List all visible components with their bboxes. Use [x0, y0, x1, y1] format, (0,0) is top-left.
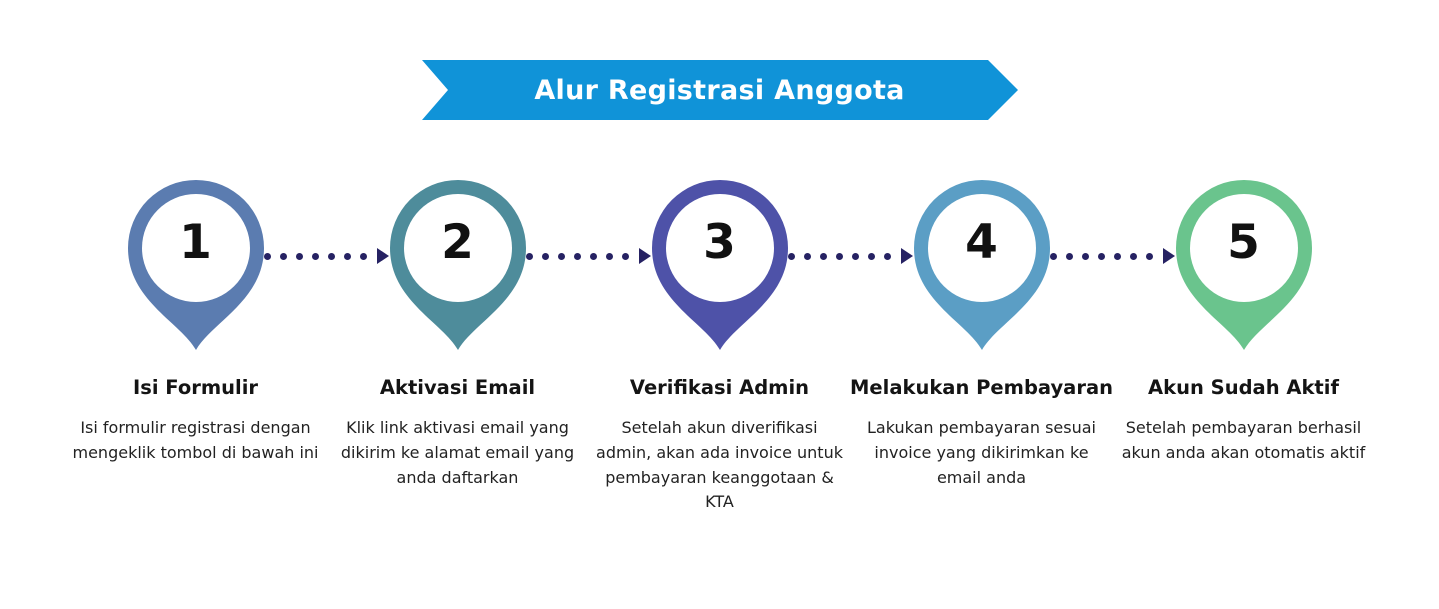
page-title: Alur Registrasi Anggota: [534, 75, 904, 106]
title-banner: Alur Registrasi Anggota: [422, 60, 1018, 120]
connector-dot: [590, 253, 597, 260]
map-pin-4: 4: [906, 172, 1058, 352]
title-banner-container: Alur Registrasi Anggota: [0, 60, 1439, 120]
step-item-5: 5 Akun Sudah Aktif Setelah pembayaran be…: [1113, 172, 1375, 466]
step-number-1: 1: [179, 219, 212, 266]
connector-dot: [574, 253, 581, 260]
connector-dot: [1098, 253, 1105, 260]
connector-dot: [526, 253, 533, 260]
connector-dot: [788, 253, 795, 260]
step-description-3: Setelah akun diverifikasi admin, akan ad…: [595, 416, 845, 515]
dotted-arrow-right-icon: [798, 248, 904, 264]
step-number-4: 4: [965, 219, 998, 266]
step-description-2: Klik link aktivasi email yang dikirim ke…: [333, 416, 583, 490]
connector-dot: [884, 253, 891, 260]
connector-dot: [836, 253, 843, 260]
step-number-2: 2: [441, 219, 474, 266]
connector-dot: [1114, 253, 1121, 260]
connector-dot: [852, 253, 859, 260]
step-number-5: 5: [1227, 219, 1260, 266]
connector-dot: [264, 253, 271, 260]
step-title-3: Verifikasi Admin: [630, 376, 809, 399]
connector-dot: [542, 253, 549, 260]
connector-dot: [606, 253, 613, 260]
connector-dot: [820, 253, 827, 260]
connector-dot: [296, 253, 303, 260]
step-title-1: Isi Formulir: [133, 376, 258, 399]
connector-dot: [1082, 253, 1089, 260]
step-description-5: Setelah pembayaran berhasil akun anda ak…: [1119, 416, 1369, 466]
step-title-2: Aktivasi Email: [380, 376, 535, 399]
steps-row: 1 Isi Formulir Isi formulir registrasi d…: [0, 172, 1439, 515]
step-item-1: 1 Isi Formulir Isi formulir registrasi d…: [65, 172, 327, 466]
map-pin-3: 3: [644, 172, 796, 352]
connector-dot: [558, 253, 565, 260]
step-item-2: 2 Aktivasi Email Klik link aktivasi emai…: [327, 172, 589, 490]
dotted-arrow-right-icon: [274, 248, 380, 264]
map-pin-1: 1: [120, 172, 272, 352]
connector-dot: [328, 253, 335, 260]
dotted-arrow-right-icon: [1060, 248, 1166, 264]
connector-dot: [1066, 253, 1073, 260]
step-title-5: Akun Sudah Aktif: [1148, 376, 1339, 399]
connector-dot: [360, 253, 367, 260]
connector-dot: [344, 253, 351, 260]
connector-dot: [312, 253, 319, 260]
step-item-4: 4 Melakukan Pembayaran Lakukan pembayara…: [851, 172, 1113, 490]
step-description-1: Isi formulir registrasi dengan mengeklik…: [71, 416, 321, 466]
connector-dot: [1050, 253, 1057, 260]
connector-dot: [1130, 253, 1137, 260]
connector-dot: [1146, 253, 1153, 260]
map-pin-5: 5: [1168, 172, 1320, 352]
step-title-4: Melakukan Pembayaran: [850, 376, 1113, 399]
step-number-3: 3: [703, 219, 736, 266]
connector-dot: [868, 253, 875, 260]
connector-dot: [804, 253, 811, 260]
step-description-4: Lakukan pembayaran sesuai invoice yang d…: [857, 416, 1107, 490]
dotted-arrow-right-icon: [536, 248, 642, 264]
connector-dot: [622, 253, 629, 260]
connector-dot: [280, 253, 287, 260]
map-pin-2: 2: [382, 172, 534, 352]
step-item-3: 3 Verifikasi Admin Setelah akun diverifi…: [589, 172, 851, 515]
